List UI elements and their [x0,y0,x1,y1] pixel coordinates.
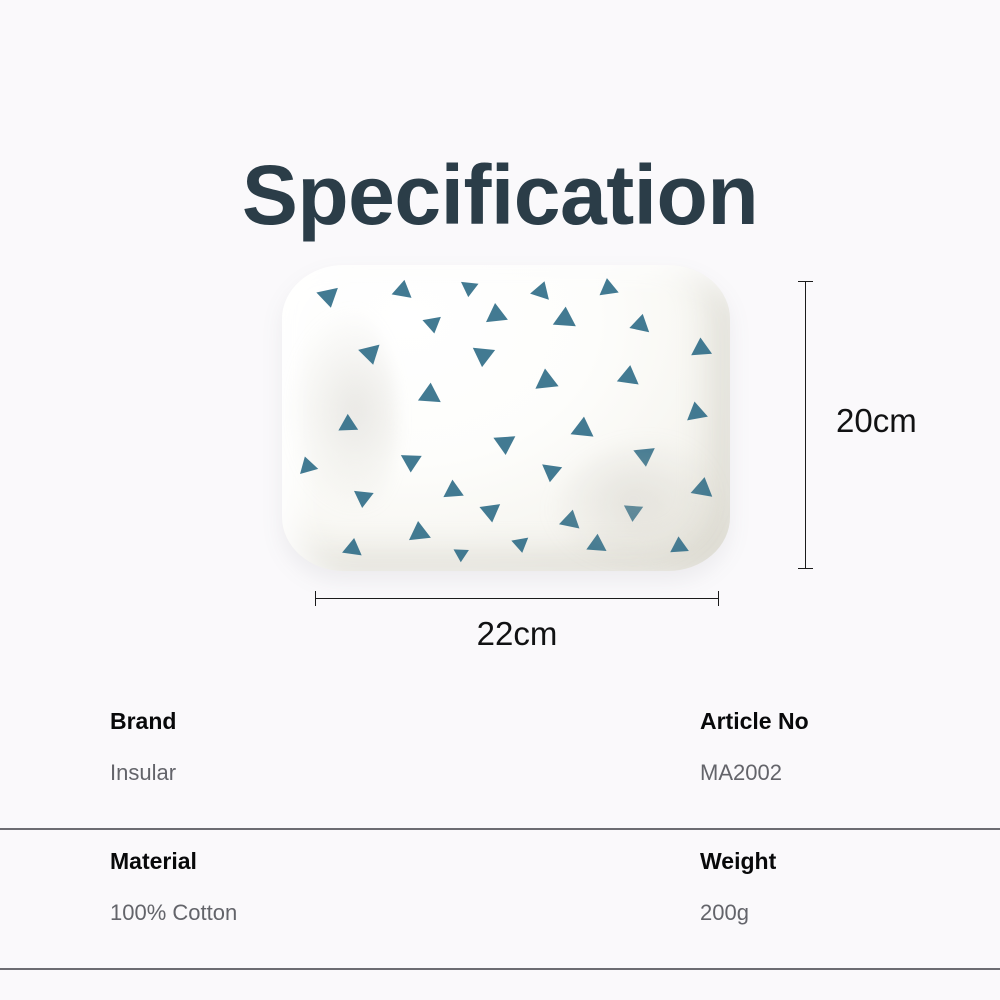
triangle-pattern-dot [597,277,618,295]
triangle-pattern-dot [484,302,508,322]
spec-cell-weight: Weight 200g [700,830,776,924]
triangle-pattern-dot [392,278,415,298]
triangle-pattern-dot [316,288,341,310]
spec-cell-article-no: Article No MA2002 [700,690,809,784]
triangle-pattern-dot [633,448,656,468]
triangle-pattern-dot [338,414,358,431]
triangle-pattern-dot [342,537,364,556]
triangle-pattern-dot [691,475,716,497]
spec-value: 100% Cotton [110,873,237,924]
spec-label: Weight [700,830,776,873]
triangle-pattern-dot [533,367,558,388]
specification-table: Brand Insular Article No MA2002 Material… [0,690,1000,970]
dimension-cap-icon [315,591,316,606]
triangle-pattern-dot [530,278,554,300]
table-row: Material 100% Cotton Weight 200g [0,830,1000,970]
triangle-pattern-dot [459,282,478,298]
spec-value: MA2002 [700,733,809,784]
triangle-pattern-dot [453,549,469,562]
triangle-pattern-dot [479,504,502,524]
triangle-pattern-dot [669,536,689,553]
spec-value: 200g [700,873,776,924]
page-title: Specification [0,151,1000,239]
width-dimension-label: 22cm [315,615,719,653]
spec-cell-brand: Brand Insular [110,690,176,784]
spec-cell-material: Material 100% Cotton [110,830,237,924]
triangle-pattern-dot [400,455,421,473]
triangle-pattern-dot [418,382,442,402]
triangle-pattern-dot [690,337,712,356]
triangle-pattern-dot [553,306,577,326]
spec-label: Material [110,830,237,873]
table-row: Brand Insular Article No MA2002 [0,690,1000,830]
triangle-pattern-dot [586,533,607,551]
triangle-pattern-dot [617,364,641,385]
triangle-pattern-dot [442,479,464,497]
dimension-cap-icon [718,591,719,606]
product-image [278,262,734,574]
triangle-pattern-dot [407,520,431,540]
triangle-pattern-dot [511,538,530,555]
triangle-pattern-dot [629,312,652,332]
triangle-pattern-dot [493,436,516,455]
triangle-pattern-dot [471,348,495,369]
dimension-cap-icon [798,281,813,282]
triangle-pattern-dot [571,415,596,436]
triangle-pattern-dot [358,345,384,368]
spec-value: Insular [110,733,176,784]
dimension-cap-icon [798,568,813,569]
height-dimension-label: 20cm [836,402,917,440]
pillow-body [282,265,730,571]
triangle-pattern-dot [352,491,373,509]
specification-page: Specification [0,0,1000,1000]
triangle-pattern-dot [422,317,443,335]
height-dimension-line [805,281,806,569]
spec-label: Brand [110,690,176,733]
spec-label: Article No [700,690,809,733]
triangle-pattern-dot [540,464,562,483]
triangle-pattern-dot [559,507,583,528]
triangle-pattern-dot [623,505,643,522]
width-dimension-line [315,598,719,599]
triangle-pattern-dot [684,400,708,421]
triangle-pattern-dot [296,454,318,474]
